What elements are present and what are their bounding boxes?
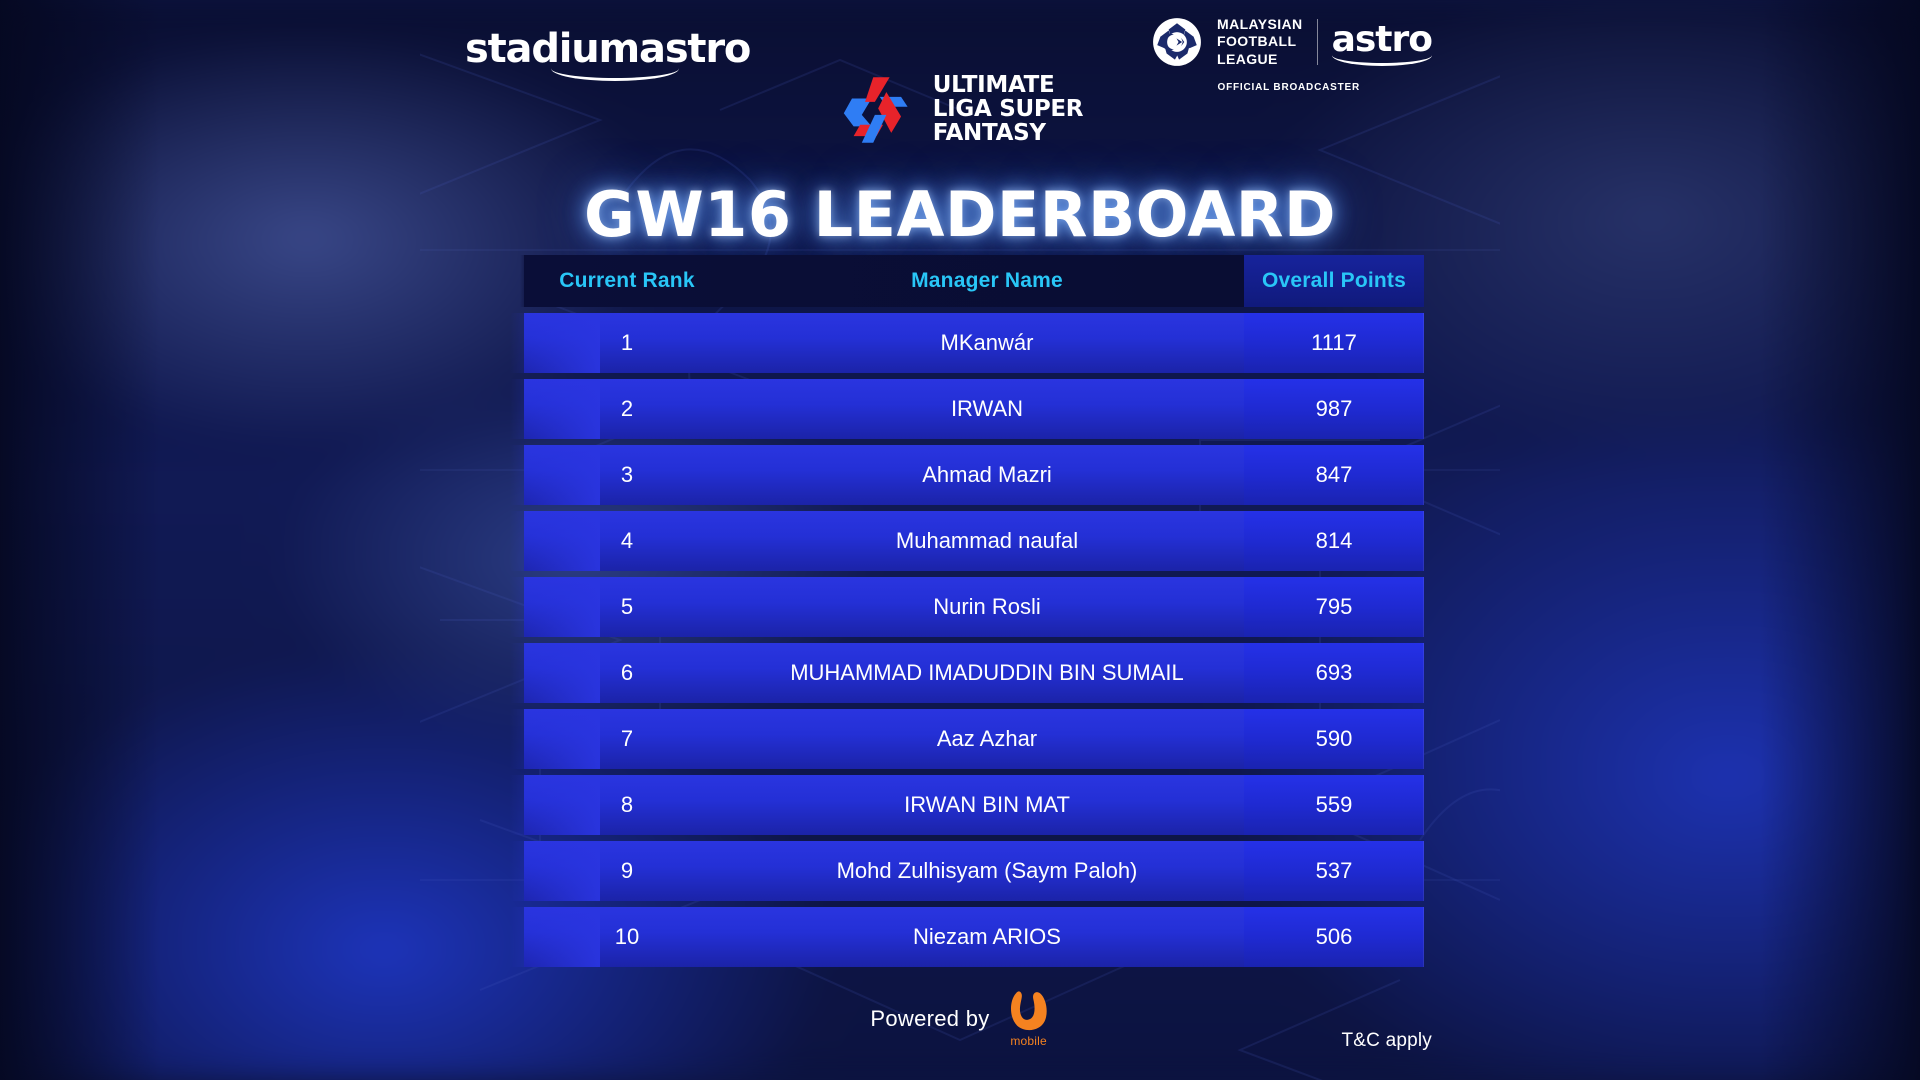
uls-wordmark: ULTIMATE LIGA SUPER FANTASY [933,74,1083,145]
cell-overall-points: 559 [1244,792,1424,818]
ultimate-liga-super-fantasy-logo: ULTIMATE LIGA SUPER FANTASY [837,74,1083,146]
cell-overall-points: 590 [1244,726,1424,752]
cell-rank: 2 [524,396,730,422]
cell-rank: 10 [524,924,730,950]
table-row: 8IRWAN BIN MAT559 [524,775,1424,835]
powered-by-group: Powered by mobile [870,989,1049,1048]
cell-overall-points: 795 [1244,594,1424,620]
cell-rank: 8 [524,792,730,818]
cell-manager-name: Ahmad Mazri [730,462,1244,488]
table-header-row: Current Rank Manager Name Overall Points [524,255,1424,307]
football-icon [1151,16,1203,68]
backdrop-left-vignette [0,0,160,1080]
stadium-astro-wordmark: stadiumastro [465,26,750,72]
cell-overall-points: 537 [1244,858,1424,884]
table-row: 7Aaz Azhar590 [524,709,1424,769]
cell-manager-name: Muhammad naufal [730,528,1244,554]
uls-line-2: LIGA SUPER [933,98,1083,122]
table-row: 1MKanwár1117 [524,313,1424,373]
logo-divider [1317,19,1318,65]
uls-line-3: FANTASY [933,122,1083,146]
footer: Powered by mobile T&C apply [420,970,1500,1080]
cell-rank: 3 [524,462,730,488]
uls-line-1: ULTIMATE [933,74,1083,98]
mfl-wordmark: MALAYSIAN FOOTBALL LEAGUE [1217,16,1303,67]
table-row: 9Mohd Zulhisyam (Saym Paloh)537 [524,841,1424,901]
astro-logo: astro [1332,19,1432,66]
table-body: 1MKanwár11172IRWAN9873Ahmad Mazri8474Muh… [524,313,1424,967]
header-manager-name: Manager Name [730,269,1244,293]
cell-manager-name: Nurin Rosli [730,594,1244,620]
content-panel: stadiumastro MALAYSIAN [420,0,1500,1080]
tnc-apply-label: T&C apply [1341,1030,1432,1052]
mfl-line-3: LEAGUE [1217,51,1303,68]
cell-overall-points: 847 [1244,462,1424,488]
cell-manager-name: IRWAN [730,396,1244,422]
astro-wordmark: astro [1332,19,1432,60]
table-row: 3Ahmad Mazri847 [524,445,1424,505]
powered-by-label: Powered by [870,1006,989,1032]
cell-rank: 9 [524,858,730,884]
cell-overall-points: 693 [1244,660,1424,686]
leaderboard-table: Current Rank Manager Name Overall Points… [524,255,1424,973]
cell-manager-name: Mohd Zulhisyam (Saym Paloh) [730,858,1244,884]
umobile-u-icon [1008,989,1050,1033]
leaderboard-graphic: stadiumastro MALAYSIAN [0,0,1920,1080]
table-row: 4Muhammad naufal814 [524,511,1424,571]
table-row: 10Niezam ARIOS506 [524,907,1424,967]
cell-manager-name: Aaz Azhar [730,726,1244,752]
mfl-astro-logo-group: MALAYSIAN FOOTBALL LEAGUE astro [1151,16,1432,68]
cell-manager-name: MUHAMMAD IMADUDDIN BIN SUMAIL [730,660,1244,686]
umobile-logo: mobile [1008,989,1050,1048]
mfl-line-1: MALAYSIAN [1217,16,1303,33]
official-broadcaster-label: OFFICIAL BROADCASTER [1218,82,1360,93]
cell-rank: 1 [524,330,730,356]
umobile-wordmark: mobile [1010,1034,1047,1048]
cell-rank: 5 [524,594,730,620]
cell-manager-name: Niezam ARIOS [730,924,1244,950]
mfl-line-2: FOOTBALL [1217,33,1303,50]
cell-overall-points: 1117 [1244,330,1424,356]
cell-overall-points: 987 [1244,396,1424,422]
page-title: GW16 LEADERBOARD [420,178,1500,251]
cell-rank: 6 [524,660,730,686]
table-row: 6MUHAMMAD IMADUDDIN BIN SUMAIL693 [524,643,1424,703]
uls-pinwheel-icon [837,74,923,146]
header-current-rank: Current Rank [524,269,730,293]
header-overall-points: Overall Points [1244,255,1424,307]
cell-rank: 7 [524,726,730,752]
table-row: 5Nurin Rosli795 [524,577,1424,637]
cell-manager-name: IRWAN BIN MAT [730,792,1244,818]
table-row: 2IRWAN987 [524,379,1424,439]
stadium-astro-logo: stadiumastro [465,26,750,81]
cell-manager-name: MKanwár [730,330,1244,356]
backdrop-right-vignette [1760,0,1920,1080]
cell-overall-points: 814 [1244,528,1424,554]
cell-rank: 4 [524,528,730,554]
cell-overall-points: 506 [1244,924,1424,950]
